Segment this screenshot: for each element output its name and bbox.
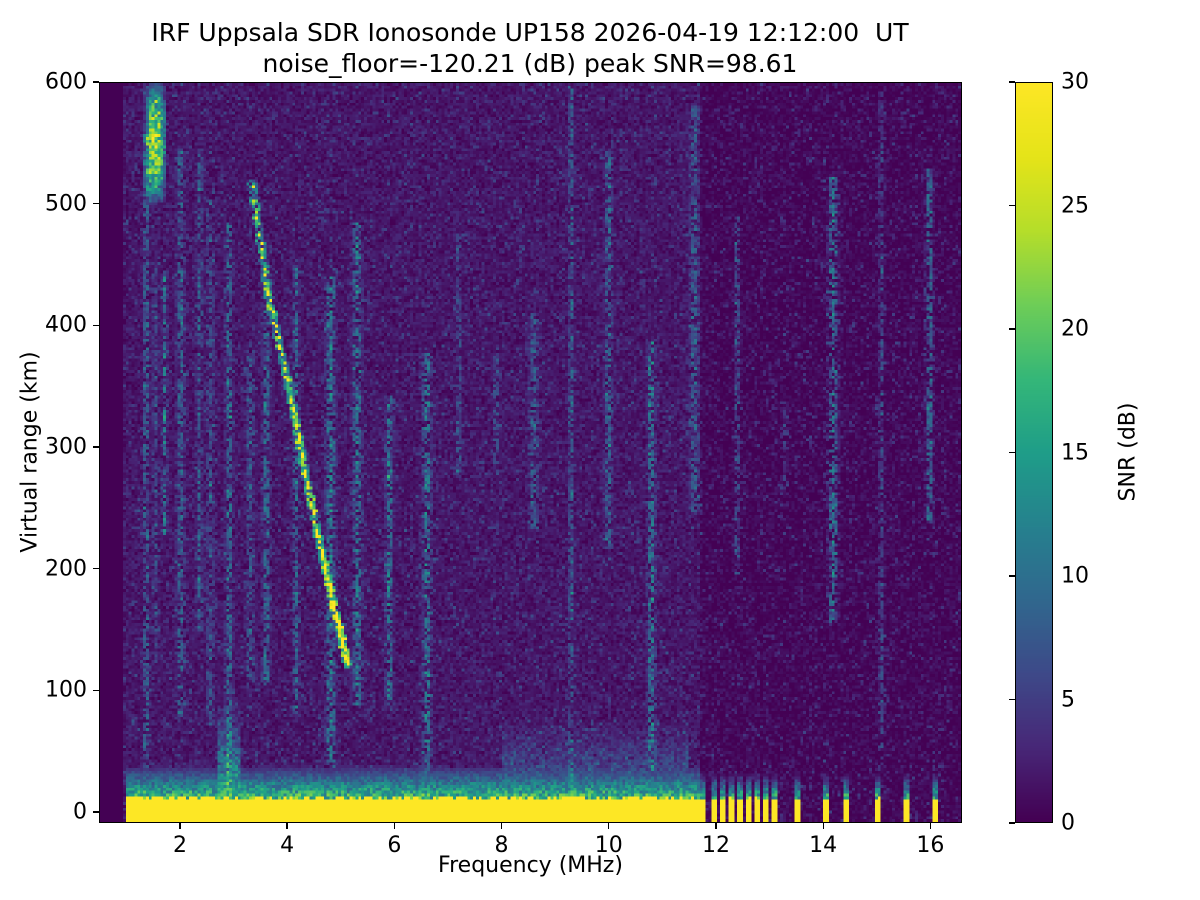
y-tick-label: 300 <box>0 435 87 460</box>
y-tick-mark <box>93 690 99 691</box>
figure-title: IRF Uppsala SDR Ionosonde UP158 2026-04-… <box>0 18 1060 79</box>
x-tick-mark <box>930 823 931 829</box>
x-tick-mark <box>823 823 824 829</box>
x-tick-mark <box>501 823 502 829</box>
x-tick-mark <box>286 823 287 829</box>
y-tick-label: 100 <box>0 678 87 703</box>
y-axis-label: Virtual range (km) <box>18 351 43 552</box>
ionogram-plot-area[interactable] <box>99 82 962 823</box>
colorbar-tick-label: 0 <box>1061 811 1075 836</box>
colorbar-tick-label: 30 <box>1061 70 1089 95</box>
colorbar-tick-label: 25 <box>1061 193 1089 218</box>
x-tick-mark <box>394 823 395 829</box>
y-tick-label: 200 <box>0 556 87 581</box>
colorbar-tick-label: 5 <box>1061 687 1075 712</box>
y-tick-mark <box>93 325 99 326</box>
colorbar-gradient <box>1016 83 1052 822</box>
title-line-2: noise_floor=-120.21 (dB) peak SNR=98.61 <box>0 49 1060 80</box>
ionogram-figure: IRF Uppsala SDR Ionosonde UP158 2026-04-… <box>0 0 1200 900</box>
x-tick-mark <box>608 823 609 829</box>
y-tick-label: 400 <box>0 313 87 338</box>
y-tick-label: 500 <box>0 191 87 216</box>
colorbar-tick-label: 15 <box>1061 440 1089 465</box>
y-tick-label: 600 <box>0 70 87 95</box>
y-tick-mark <box>93 203 99 204</box>
title-line-1: IRF Uppsala SDR Ionosonde UP158 2026-04-… <box>0 18 1060 49</box>
y-tick-mark <box>93 568 99 569</box>
y-tick-label: 0 <box>0 800 87 825</box>
x-tick-mark <box>715 823 716 829</box>
colorbar[interactable] <box>1015 82 1053 823</box>
x-axis-label: Frequency (MHz) <box>99 853 962 878</box>
y-tick-mark <box>93 811 99 812</box>
y-tick-mark <box>93 81 99 82</box>
y-tick-mark <box>93 446 99 447</box>
colorbar-tick-label: 20 <box>1061 317 1089 342</box>
colorbar-tick-label: 10 <box>1061 564 1089 589</box>
colorbar-label: SNR (dB) <box>1116 403 1141 502</box>
ionogram-heatmap <box>100 83 961 822</box>
x-tick-mark <box>179 823 180 829</box>
